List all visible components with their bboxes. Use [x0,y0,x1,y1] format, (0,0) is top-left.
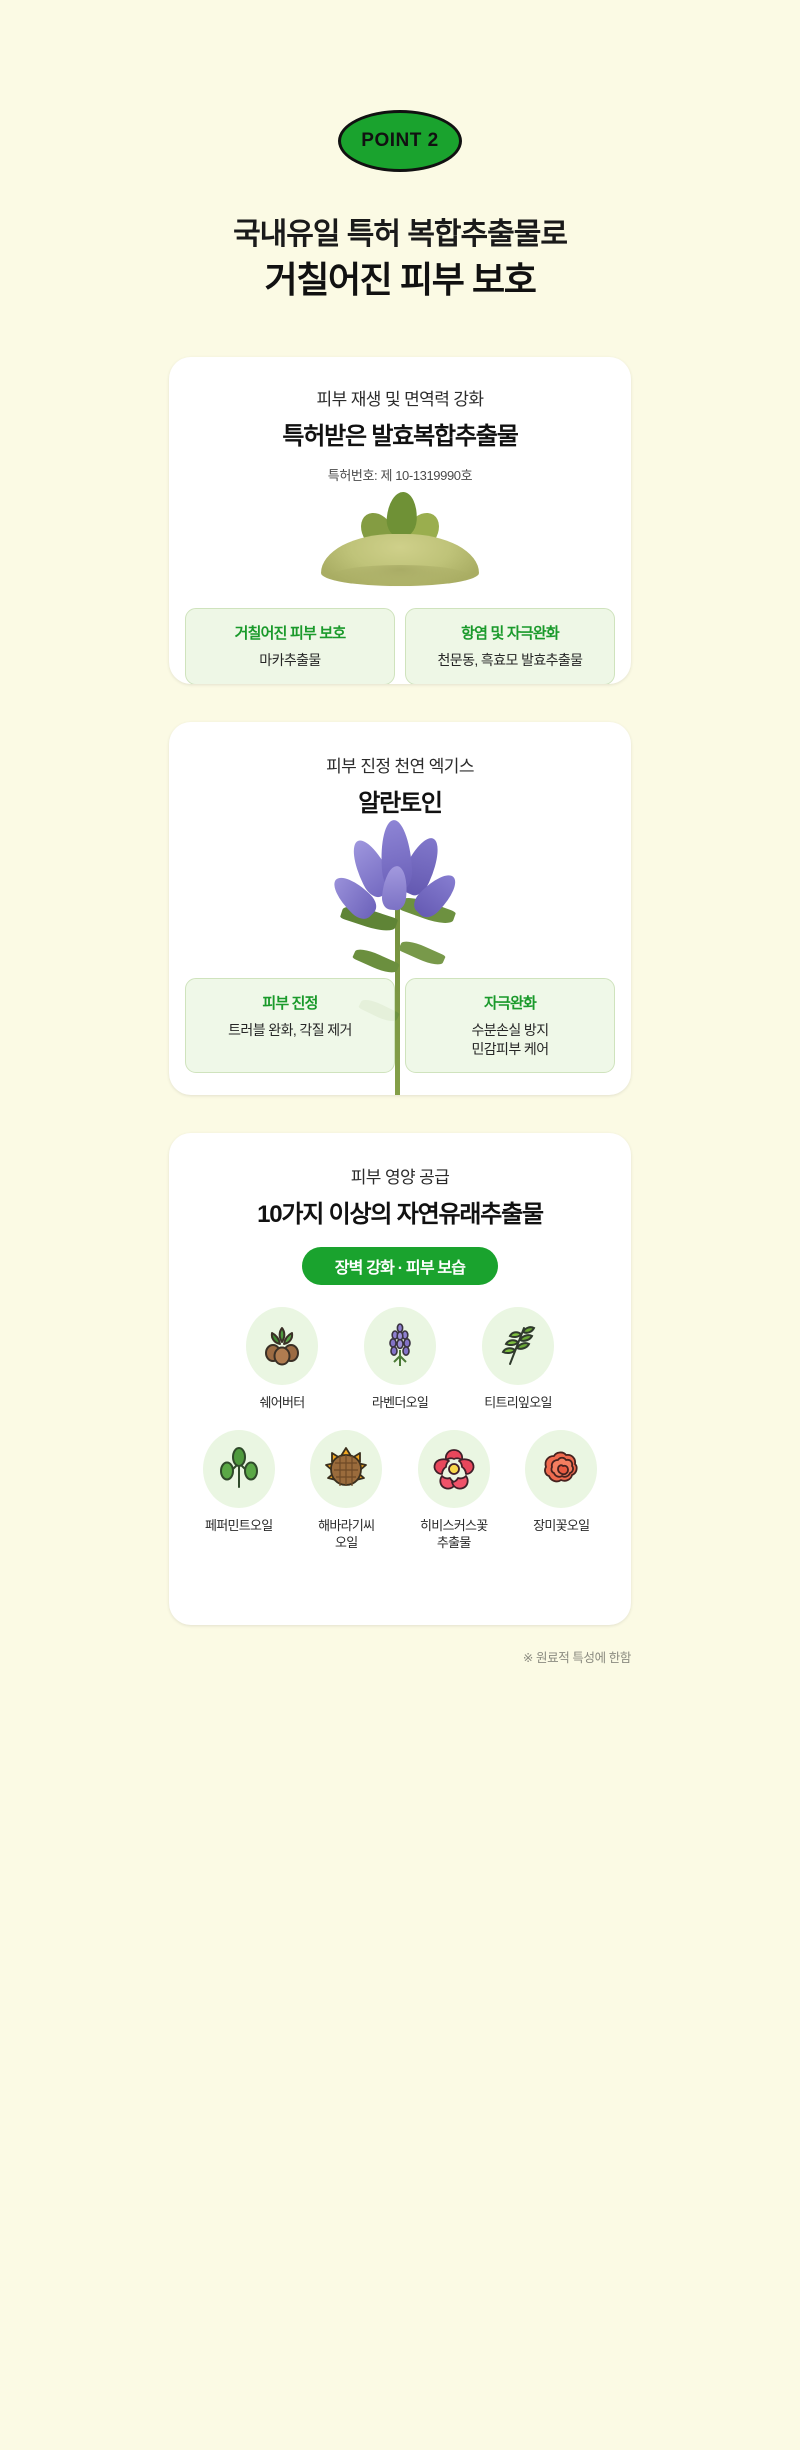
fact-desc-line2: 민감피부 케어 [412,1040,608,1059]
ingredient-label-line1: 라벤더오일 [350,1395,450,1412]
leaf-icon [352,946,400,977]
card-fermented-subtitle: 피부 재생 및 면역력 강화 [169,385,631,410]
ingredient-grid: 쉐어버터 [169,1285,631,1552]
ingredient-label: 쉐어버터 [232,1395,332,1412]
fact-box-irritation-relief: 자극완화 수분손실 방지 민감피부 케어 [405,978,615,1074]
page-title-line1: 국내유일 특허 복합추출물로 [233,216,567,254]
ingredient-item-tea-tree-oil: 티트리잎오일 [468,1307,568,1412]
ingredient-label: 장미꽃오일 [512,1518,612,1535]
fact-box-skin-protection: 거칠어진 피부 보호 마카추출물 [185,608,395,684]
card-natural-title: 10가지 이상의 자연유래추출물 [169,1194,631,1229]
fact-desc: 마카추출물 [192,651,388,670]
fact-title: 거칠어진 피부 보호 [192,622,388,643]
peppermint-icon [215,1445,263,1493]
fact-title: 자극완화 [412,992,608,1013]
page-title-line2: 거칠어진 피부 보호 [233,257,567,303]
ingredient-row: 쉐어버터 [189,1307,611,1412]
ingredient-icon-bg [418,1430,490,1508]
fact-desc-line1: 트러블 완화, 각질 제거 [192,1021,388,1040]
card-natural-extracts: 피부 영양 공급 10가지 이상의 자연유래추출물 장벽 강화 · 피부 보습 [169,1133,631,1625]
fact-title: 항염 및 자극완화 [412,622,608,643]
powder-pile [321,534,479,586]
tea-tree-icon [494,1322,542,1370]
rose-icon [537,1445,585,1493]
fact-desc: 천문동, 흑효모 발효추출물 [412,651,608,670]
fact-title: 피부 진정 [192,992,388,1013]
infographic-page: POINT 2 국내유일 특허 복합추출물로 거칠어진 피부 보호 피부 재생 … [0,0,800,2450]
benefit-pill-badge: 장벽 강화 · 피부 보습 [302,1247,498,1285]
ingredient-label-line1: 티트리잎오일 [468,1395,568,1412]
ingredient-label-line1: 쉐어버터 [232,1395,332,1412]
shea-butter-icon [258,1322,306,1370]
card-fermented-title: 특허받은 발효복합추출물 [169,416,631,451]
sunflower-icon [322,1445,370,1493]
footnote: ※ 원료적 특성에 한함 [169,1647,631,1666]
ingredient-label: 히비스커스꽃 추출물 [404,1518,504,1552]
ingredient-icon-bg [364,1307,436,1385]
ingredient-icon-bg [525,1430,597,1508]
leaf-icon [398,938,446,969]
ingredient-label-line1: 히비스커스꽃 [404,1518,504,1535]
benefit-pill-label: 장벽 강화 · 피부 보습 [335,1254,465,1278]
ingredient-label: 페퍼민트오일 [189,1518,289,1535]
fact-desc: 트러블 완화, 각질 제거 [192,1021,388,1040]
lavender-icon [376,1322,424,1370]
patent-number: 특허번호: 제 10-1319990호 [169,465,631,484]
ingredient-item-lavender-oil: 라벤더오일 [350,1307,450,1412]
card-fermented-header: 피부 재생 및 면역력 강화 특허받은 발효복합추출물 특허번호: 제 10-1… [169,357,631,484]
ingredient-icon-bg [203,1430,275,1508]
fact-row: 거칠어진 피부 보호 마카추출물 항염 및 자극완화 천문동, 흑효모 발효추출… [169,608,631,684]
ingredient-label-line2: 추출물 [404,1535,504,1552]
card-natural-header: 피부 영양 공급 10가지 이상의 자연유래추출물 [169,1133,631,1229]
ingredient-label-line2: 오일 [297,1535,397,1552]
fact-box-skin-soothing: 피부 진정 트러블 완화, 각질 제거 [185,978,395,1074]
ingredient-item-peppermint-oil: 페퍼민트오일 [189,1430,289,1552]
card-allantoin-title: 알란토인 [169,783,631,818]
herb-powder-illustration [305,490,495,590]
hibiscus-icon [430,1445,478,1493]
ingredient-icon-bg [310,1430,382,1508]
ingredient-item-sunflower-seed-oil: 해바라기씨 오일 [297,1430,397,1552]
fact-desc-line1: 수분손실 방지 [412,1021,608,1040]
fact-row: 피부 진정 트러블 완화, 각질 제거 자극완화 수분손실 방지 민감피부 케어 [169,978,631,1074]
ingredient-item-hibiscus-extract: 히비스커스꽃 추출물 [404,1430,504,1552]
ingredient-icon-bg [482,1307,554,1385]
fact-desc-line1: 마카추출물 [192,651,388,670]
card-allantoin: 피부 진정 천연 엑기스 알란토인 피부 진정 [169,722,631,1095]
ingredient-label-line1: 장미꽃오일 [512,1518,612,1535]
ingredient-icon-bg [246,1307,318,1385]
point-badge: POINT 2 [338,110,462,172]
ingredient-item-shea-butter: 쉐어버터 [232,1307,332,1412]
point-badge-label: POINT 2 [361,130,438,152]
fact-desc: 수분손실 방지 민감피부 케어 [412,1021,608,1059]
card-allantoin-header: 피부 진정 천연 엑기스 알란토인 [169,722,631,818]
ingredient-label: 티트리잎오일 [468,1395,568,1412]
fermented-herb-powder-image [169,486,631,590]
ingredient-label-line1: 해바라기씨 [297,1518,397,1535]
ingredient-row: 페퍼민트오일 [189,1430,611,1552]
page-title: 국내유일 특허 복합추출물로 거칠어진 피부 보호 [233,216,567,303]
card-fermented-extract: 피부 재생 및 면역력 강화 특허받은 발효복합추출물 특허번호: 제 10-1… [169,357,631,684]
ingredient-label: 라벤더오일 [350,1395,450,1412]
fact-desc-line1: 천문동, 흑효모 발효추출물 [412,651,608,670]
ingredient-item-rose-oil: 장미꽃오일 [512,1430,612,1552]
fact-box-anti-inflammation: 항염 및 자극완화 천문동, 흑효모 발효추출물 [405,608,615,684]
card-allantoin-subtitle: 피부 진정 천연 엑기스 [169,752,631,777]
ingredient-label-line1: 페퍼민트오일 [189,1518,289,1535]
ingredient-label: 해바라기씨 오일 [297,1518,397,1552]
card-natural-subtitle: 피부 영양 공급 [169,1163,631,1188]
